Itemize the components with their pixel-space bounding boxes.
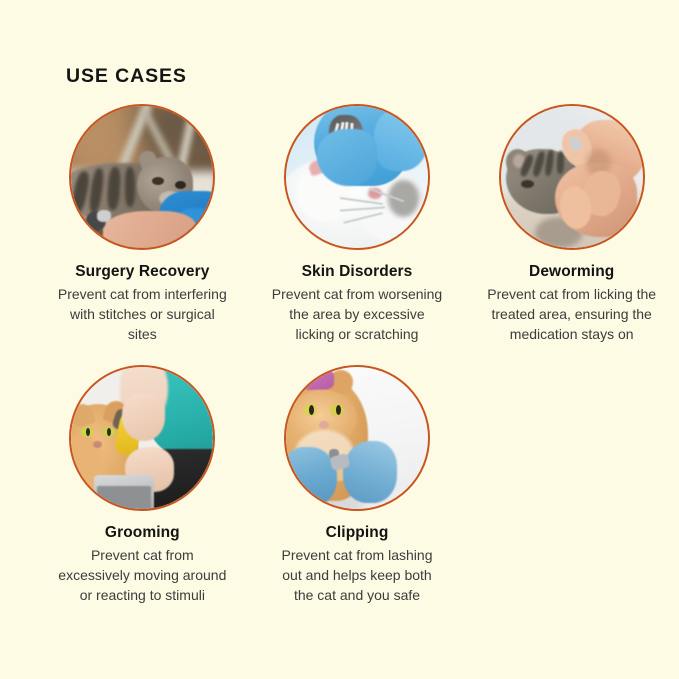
use-case-title: Grooming <box>105 524 180 541</box>
cat-clipping-photo <box>286 367 428 509</box>
use-case-description: Prevent cat from excessively moving arou… <box>56 545 228 605</box>
use-cases-row-2: Grooming Prevent cat from excessively mo… <box>0 365 679 605</box>
use-cases-grid: Surgery Recovery Prevent cat from interf… <box>0 104 679 605</box>
use-case-title: Surgery Recovery <box>75 263 209 280</box>
cat-deworming-photo <box>501 106 643 248</box>
use-case-image-skin-disorders <box>284 104 430 250</box>
use-case-card-deworming: Deworming Prevent cat from licking the t… <box>464 104 679 344</box>
cat-skin-photo <box>286 106 428 248</box>
use-case-card-skin-disorders: Skin Disorders Prevent cat from worsenin… <box>250 104 465 344</box>
use-case-description: Prevent cat from licking the treated are… <box>486 284 658 344</box>
page-title: USE CASES <box>66 65 187 88</box>
use-case-image-clipping <box>284 365 430 511</box>
use-case-description: Prevent cat from worsening the area by e… <box>271 284 443 344</box>
use-cases-page: USE CASES <box>0 0 679 679</box>
use-case-card-clipping: Clipping Prevent cat from lashing out an… <box>250 365 465 605</box>
cat-surgery-photo <box>71 106 213 248</box>
use-case-image-grooming <box>69 365 215 511</box>
use-case-title: Deworming <box>529 263 614 280</box>
use-case-image-deworming <box>499 104 645 250</box>
use-cases-row-1: Surgery Recovery Prevent cat from interf… <box>0 104 679 344</box>
use-case-title: Skin Disorders <box>302 263 413 280</box>
cat-grooming-photo <box>71 367 213 509</box>
use-case-description: Prevent cat from lashing out and helps k… <box>271 545 443 605</box>
use-case-image-surgery-recovery <box>69 104 215 250</box>
use-case-card-surgery-recovery: Surgery Recovery Prevent cat from interf… <box>35 104 250 344</box>
use-cases-row-2-spacer <box>464 365 679 605</box>
use-case-title: Clipping <box>326 524 389 541</box>
use-case-card-grooming: Grooming Prevent cat from excessively mo… <box>35 365 250 605</box>
use-case-description: Prevent cat from interfering with stitch… <box>56 284 228 344</box>
